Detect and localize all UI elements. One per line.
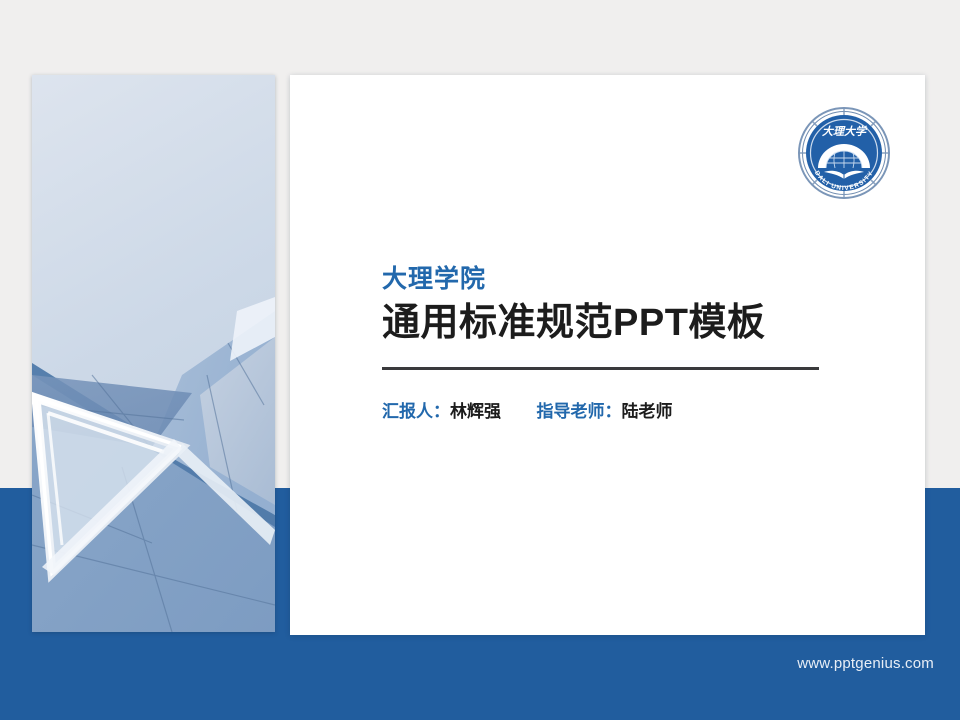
page-title: 通用标准规范PPT模板: [382, 302, 842, 346]
title-card: 大理大学: [290, 75, 925, 635]
presenter-group: 汇报人：林辉强: [382, 397, 501, 422]
advisor-group: 指导老师：陆老师: [536, 397, 672, 422]
title-divider: [382, 367, 819, 370]
logo-cn-name: 大理大学: [822, 125, 868, 138]
presenter-label: 汇报人：: [382, 402, 450, 421]
university-logo: 大理大学: [796, 105, 892, 201]
dali-university-emblem-icon: 大理大学: [796, 105, 892, 201]
advisor-label: 指导老师：: [536, 402, 621, 421]
ppt-title-slide: www.pptgenius.com: [0, 0, 960, 720]
institution-name: 大理学院: [382, 265, 842, 294]
footer-url: www.pptgenius.com: [797, 655, 934, 672]
presenter-name: 林辉强: [450, 402, 501, 421]
cover-photo-panel: [32, 75, 275, 632]
advisor-name: 陆老师: [621, 402, 672, 421]
architecture-photo: [32, 75, 275, 632]
title-text-block: 大理学院 通用标准规范PPT模板 汇报人：林辉强 指导老师：陆老师: [382, 265, 842, 422]
byline-row: 汇报人：林辉强 指导老师：陆老师: [382, 397, 842, 422]
